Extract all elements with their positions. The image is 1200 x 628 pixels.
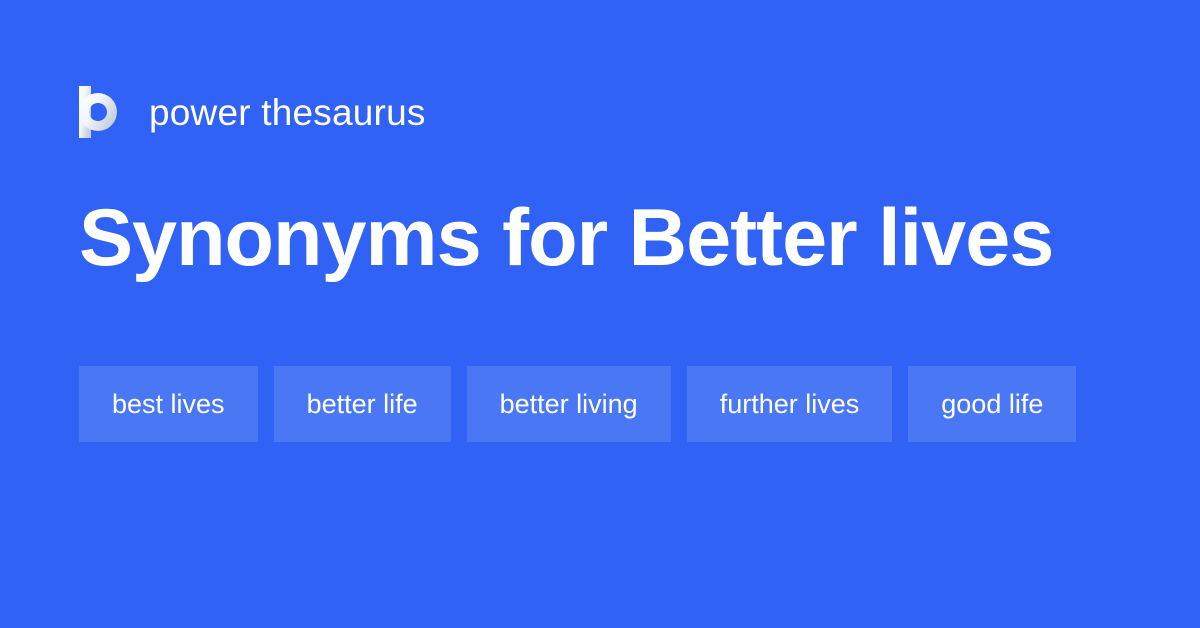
share-card: power thesaurus Synonyms for Better live… [0, 0, 1200, 628]
synonym-tag[interactable]: better living [467, 366, 671, 442]
synonym-tag[interactable]: good life [908, 366, 1076, 442]
power-thesaurus-b-logo-icon [79, 86, 121, 138]
page-title: Synonyms for Better lives [79, 196, 1139, 280]
synonym-tag-list: best lives better life better living fur… [79, 366, 1121, 442]
brand-name: power thesaurus [149, 94, 426, 131]
brand-logo[interactable]: power thesaurus [79, 84, 426, 140]
synonym-tag[interactable]: best lives [79, 366, 258, 442]
synonym-tag[interactable]: further lives [687, 366, 893, 442]
synonym-tag[interactable]: better life [274, 366, 451, 442]
